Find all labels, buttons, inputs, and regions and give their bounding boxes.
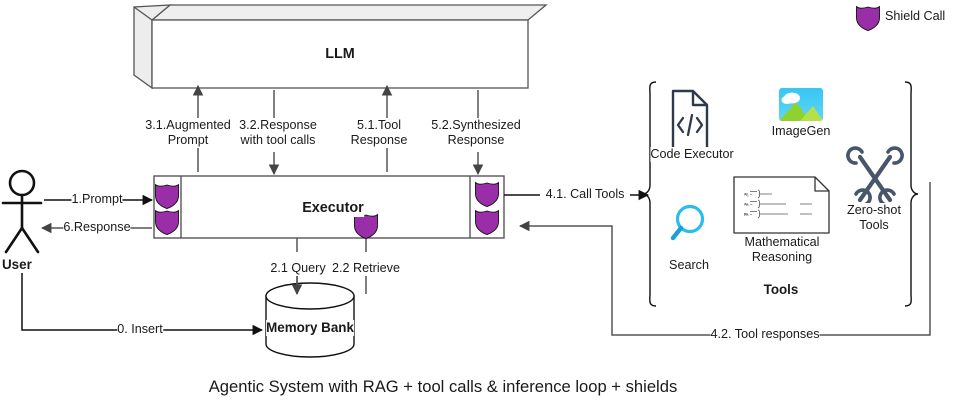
diagram-vector-layer: A₀ =Aₙ =Bₙ = [0,0,970,411]
tool-label-zero-shot-tools-line1: Zero-shot [847,203,901,218]
tool-label-zero-shot-tools-line2: Tools [859,218,888,233]
user-figure [3,171,41,252]
edge-label-51-tool-response-line1: 5.1.Tool [357,118,401,133]
edge-label-32-response-tool-calls-line2: with tool calls [241,133,316,148]
edge-label-52-synthesized-response-line1: 5.2.Synthesized [431,118,521,133]
edge-label-41-call-tools: 4.1. Call Tools [546,187,625,202]
magnifier-icon [673,207,703,239]
edge-label-22-retrieve: 2.2 Retrieve [332,261,400,276]
tool-label-mathematical-reasoning-line2: Reasoning [752,250,812,265]
edge-label-32-response-tool-calls-line1: 3.2.Response [239,118,317,133]
svg-text:Bₙ =: Bₙ = [744,212,753,217]
tools-group-label: Tools [764,282,799,298]
tools-group-brace-right [905,82,918,306]
tools-group-brace-left [643,82,656,306]
svg-text:A₀ =: A₀ = [744,192,753,197]
legend-shield-icon [857,7,880,31]
tool-label-mathematical-reasoning-line1: Mathematical [745,235,820,250]
edge-label-42-tool-responses: 4.2. Tool responses [711,327,820,342]
edge-label-21-query: 2.1 Query [270,261,325,276]
edge-0-insert [22,262,262,330]
edge-label-52-synthesized-response-line2: Response [448,133,505,148]
edge-label-1-prompt: 1.Prompt [71,192,122,207]
executor-label: Executor [302,200,364,217]
formula-document-icon: A₀ =Aₙ =Bₙ = [734,177,829,233]
code-document-icon [673,91,707,149]
user-label: User [2,257,32,273]
tool-label-code-executor: Code Executor [650,147,733,162]
svg-text:Aₙ =: Aₙ = [744,202,753,207]
diagram-canvas: A₀ =Aₙ =Bₙ = [0,0,970,411]
tool-label-search: Search [669,258,709,273]
edge-label-31-augmented-prompt-line2: Prompt [168,133,209,148]
crossed-wrenches-icon [848,148,902,205]
edge-label-51-tool-response-line2: Response [351,133,408,148]
diagram-caption: Agentic System with RAG + tool calls & i… [209,377,678,397]
memory-bank-label: Memory Bank [266,320,354,336]
edge-label-31-augmented-prompt-line1: 3.1.Augmented [145,118,230,133]
legend-label: Shield Call [885,9,945,24]
tool-label-imagegen: ImageGen [772,124,831,139]
llm-label: LLM [325,46,355,63]
edge-label-6-response: 6.Response [63,220,130,235]
image-thumbnail-icon [779,88,823,121]
edge-label-0-insert: 0. Insert [117,322,163,337]
